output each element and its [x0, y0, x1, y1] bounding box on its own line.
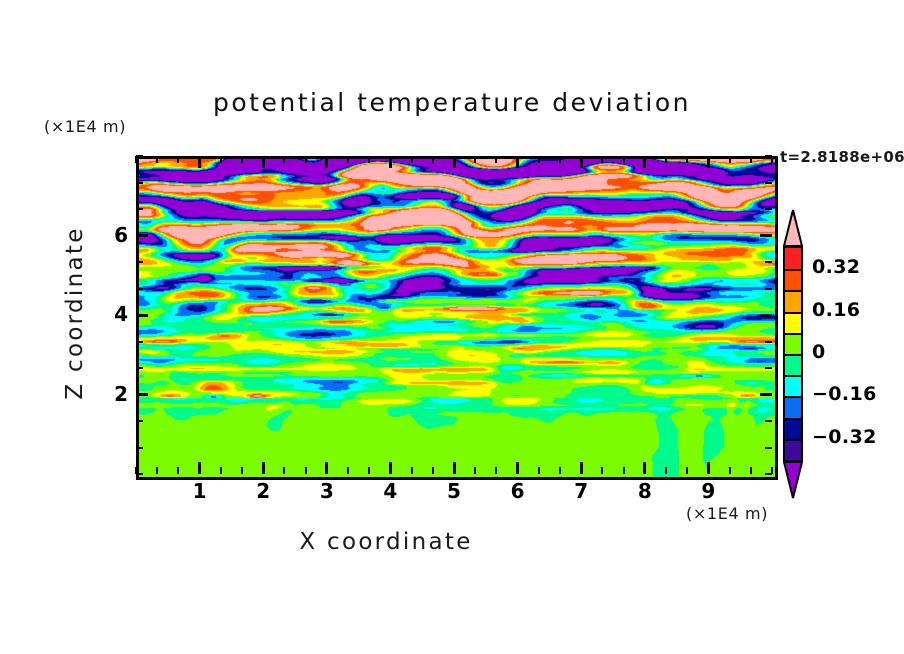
x-tick-label: 8: [630, 479, 660, 503]
x-tick-label: 3: [312, 479, 342, 503]
colorbar-bands: [783, 246, 803, 462]
colorbar-tick-label: −0.32: [812, 426, 877, 448]
colorbar-band: [785, 439, 801, 460]
contour-field: [139, 159, 775, 477]
x-tick-label: 4: [375, 479, 405, 503]
colorbar-band: [785, 418, 801, 439]
colorbar-band: [785, 333, 801, 354]
time-annotation: t=2.8188e+06: [780, 148, 904, 166]
y-axis-unit-label: (×1E4 m): [44, 117, 126, 136]
x-tick-label: 9: [693, 479, 723, 503]
plot-area: [136, 156, 778, 480]
y-axis-title: Z coordinate: [62, 223, 88, 403]
colorbar-tick-label: −0.16: [812, 383, 877, 405]
colorbar-band: [785, 396, 801, 417]
x-tick-label: 5: [439, 479, 469, 503]
colorbar-over-arrow: [783, 209, 803, 247]
colorbar-band: [785, 354, 801, 375]
x-axis-unit-label: (×1E4 m): [686, 504, 768, 523]
colorbar-under-arrow: [783, 461, 803, 499]
x-tick-label: 1: [185, 479, 215, 503]
colorbar-tick-label: 0.32: [812, 256, 860, 278]
colorbar-band: [785, 312, 801, 333]
colorbar-band: [785, 290, 801, 311]
colorbar: [783, 209, 803, 499]
x-axis-title: X coordinate: [0, 529, 772, 555]
y-tick-label: 6: [98, 223, 128, 247]
colorbar-tick-label: 0.16: [812, 299, 860, 321]
x-tick-label: 2: [248, 479, 278, 503]
y-tick-label: 4: [98, 302, 128, 326]
colorbar-band: [785, 269, 801, 290]
x-tick-label: 7: [566, 479, 596, 503]
colorbar-band: [785, 248, 801, 269]
page-title: potential temperature deviation: [0, 88, 904, 117]
colorbar-tick-label: 0: [812, 341, 826, 363]
x-tick-label: 6: [503, 479, 533, 503]
y-tick-label: 2: [98, 382, 128, 406]
colorbar-band: [785, 375, 801, 396]
